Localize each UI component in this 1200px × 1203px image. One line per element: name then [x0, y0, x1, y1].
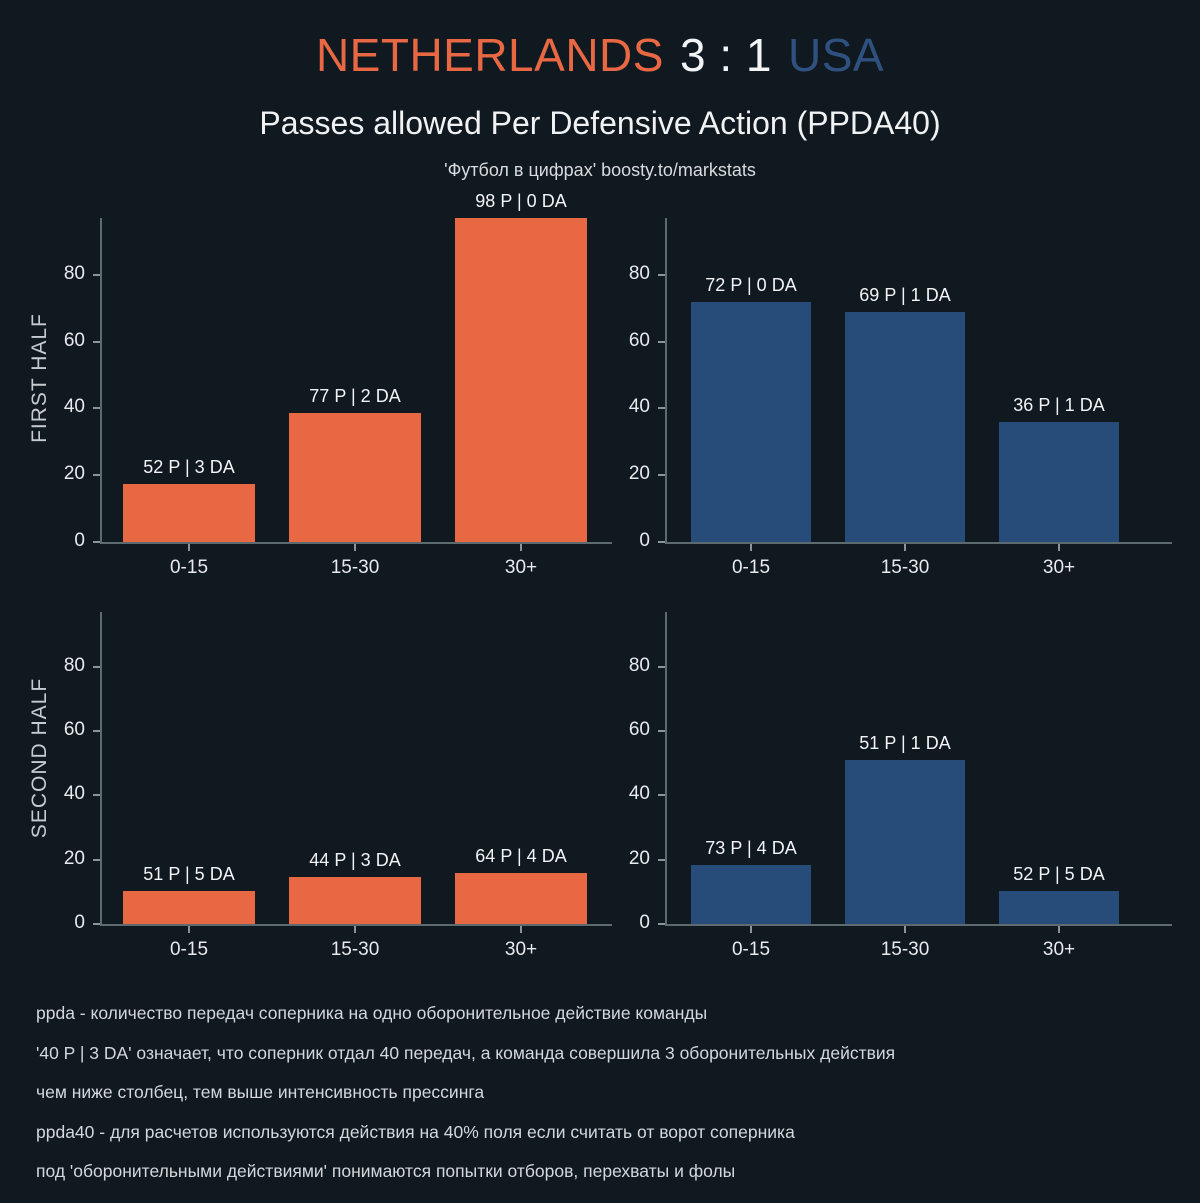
page-subtitle: 'Футбол в цифрах' boosty.to/markstats — [0, 160, 1200, 181]
x-tick-mark — [520, 926, 522, 933]
bar — [123, 484, 255, 542]
y-tick-label: 80 — [595, 655, 650, 677]
bar — [691, 302, 811, 542]
y-tick-label: 80 — [595, 263, 650, 285]
y-tick-mark — [658, 541, 665, 543]
y-tick-mark — [93, 794, 100, 796]
row-label-second: SECOND HALF — [28, 658, 52, 858]
bar-value-label: 36 P | 1 DA — [944, 395, 1174, 416]
footnote-line: '40 P | 3 DA' означает, что соперник отд… — [36, 1045, 1176, 1063]
x-tick-label: 0-15 — [129, 557, 249, 579]
footnote-block: ppda - количество передач соперника на о… — [36, 1005, 1176, 1203]
bar-value-label: 69 P | 1 DA — [790, 285, 1020, 306]
x-tick-mark — [904, 926, 906, 933]
x-tick-mark — [1058, 544, 1060, 551]
y-tick-mark — [93, 859, 100, 861]
y-tick-label: 0 — [30, 530, 85, 552]
row-label-first: FIRST HALF — [28, 278, 52, 478]
x-tick-mark — [750, 926, 752, 933]
y-tick-label: 20 — [595, 848, 650, 870]
x-axis-spine — [100, 542, 612, 544]
y-axis-spine — [665, 218, 667, 544]
x-tick-label: 15-30 — [845, 557, 965, 579]
y-tick-mark — [658, 859, 665, 861]
footnote-line: под 'оборонительными действиями' понимаю… — [36, 1163, 1176, 1181]
y-axis-spine — [665, 612, 667, 926]
x-tick-label: 15-30 — [295, 939, 415, 961]
footnote-line: ppda - количество передач соперника на о… — [36, 1005, 1176, 1023]
bar — [845, 312, 965, 542]
y-tick-label: 60 — [595, 330, 650, 352]
x-tick-label: 30+ — [461, 939, 581, 961]
bar — [999, 422, 1119, 542]
y-tick-label: 60 — [30, 719, 85, 741]
y-tick-mark — [658, 274, 665, 276]
x-tick-label: 0-15 — [129, 939, 249, 961]
y-tick-mark — [93, 341, 100, 343]
y-tick-mark — [93, 274, 100, 276]
x-tick-label: 0-15 — [691, 557, 811, 579]
away-team-name: USA — [788, 29, 884, 81]
y-tick-label: 40 — [595, 396, 650, 418]
x-tick-mark — [188, 926, 190, 933]
y-axis-spine — [100, 612, 102, 926]
x-tick-label: 0-15 — [691, 939, 811, 961]
y-tick-label: 40 — [30, 783, 85, 805]
bar — [999, 891, 1119, 924]
bar — [691, 865, 811, 924]
y-tick-label: 0 — [595, 912, 650, 934]
y-tick-mark — [658, 730, 665, 732]
match-score: 3 : 1 — [680, 29, 772, 81]
chart-page: NETHERLANDS3 : 1USA Passes allowed Per D… — [0, 0, 1200, 1200]
bar — [455, 218, 587, 542]
bar-value-label: 51 P | 5 DA — [68, 864, 310, 885]
bar — [455, 873, 587, 924]
y-tick-mark — [93, 730, 100, 732]
x-tick-mark — [904, 544, 906, 551]
y-tick-mark — [93, 474, 100, 476]
x-tick-label: 30+ — [461, 557, 581, 579]
y-tick-mark — [93, 923, 100, 925]
x-tick-mark — [354, 544, 356, 551]
y-tick-label: 60 — [30, 330, 85, 352]
bar — [123, 891, 255, 924]
y-tick-label: 20 — [30, 463, 85, 485]
x-tick-label: 15-30 — [845, 939, 965, 961]
footnote-line: чем ниже столбец, тем выше интенсивность… — [36, 1084, 1176, 1102]
bar — [289, 877, 421, 924]
bar-value-label: 51 P | 1 DA — [790, 733, 1020, 754]
y-tick-mark — [658, 407, 665, 409]
bar-value-label: 73 P | 4 DA — [636, 838, 866, 859]
bar-value-label: 98 P | 0 DA — [400, 191, 642, 212]
y-tick-label: 20 — [30, 848, 85, 870]
y-tick-label: 80 — [30, 655, 85, 677]
scoreline: NETHERLANDS3 : 1USA — [0, 28, 1200, 82]
bar — [289, 413, 421, 542]
x-axis-spine — [665, 924, 1172, 926]
x-tick-label: 15-30 — [295, 557, 415, 579]
y-tick-label: 0 — [595, 530, 650, 552]
y-tick-mark — [658, 341, 665, 343]
home-team-name: NETHERLANDS — [316, 29, 664, 81]
x-tick-mark — [188, 544, 190, 551]
bar-value-label: 64 P | 4 DA — [400, 846, 642, 867]
y-tick-mark — [658, 474, 665, 476]
x-tick-mark — [354, 926, 356, 933]
y-tick-mark — [93, 407, 100, 409]
y-tick-label: 40 — [595, 783, 650, 805]
y-tick-label: 60 — [595, 719, 650, 741]
y-tick-label: 0 — [30, 912, 85, 934]
bar-value-label: 52 P | 5 DA — [944, 864, 1174, 885]
bar — [845, 760, 965, 924]
y-tick-label: 20 — [595, 463, 650, 485]
x-tick-label: 30+ — [999, 939, 1119, 961]
y-tick-label: 40 — [30, 396, 85, 418]
page-title: Passes allowed Per Defensive Action (PPD… — [0, 105, 1200, 142]
bar-value-label: 72 P | 0 DA — [636, 275, 866, 296]
footnote-line: ppda40 - для расчетов используются дейст… — [36, 1124, 1176, 1142]
x-tick-mark — [520, 544, 522, 551]
y-tick-mark — [658, 794, 665, 796]
x-axis-spine — [665, 542, 1172, 544]
x-tick-mark — [750, 544, 752, 551]
x-axis-spine — [100, 924, 612, 926]
y-tick-label: 80 — [30, 263, 85, 285]
y-tick-mark — [658, 923, 665, 925]
y-tick-mark — [658, 666, 665, 668]
bar-value-label: 77 P | 2 DA — [234, 386, 476, 407]
x-tick-label: 30+ — [999, 557, 1119, 579]
bar-value-label: 44 P | 3 DA — [234, 850, 476, 871]
y-tick-mark — [93, 541, 100, 543]
y-axis-spine — [100, 218, 102, 544]
bar-value-label: 52 P | 3 DA — [68, 457, 310, 478]
y-tick-mark — [93, 666, 100, 668]
x-tick-mark — [1058, 926, 1060, 933]
